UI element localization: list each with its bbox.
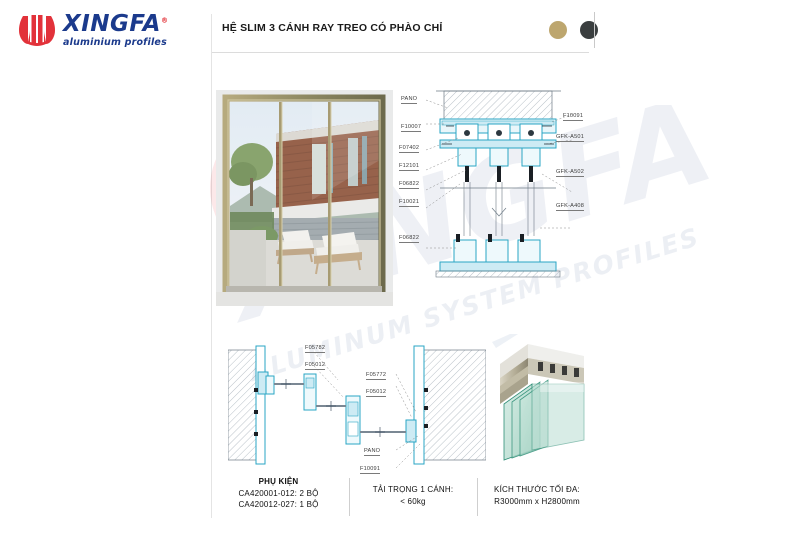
label-f06822-lower: F06822	[399, 235, 419, 243]
registered-mark-icon: ®	[161, 16, 169, 24]
caption-kich-thuoc: KÍCH THƯỚC TỐI ĐA: R3000mm x H2800mm	[473, 484, 601, 507]
brand-logo: XINGFA® aluminium profiles	[18, 13, 168, 48]
page-header: XINGFA® aluminium profiles HỆ SLIM 3 CÁN…	[0, 0, 800, 58]
page-title: HỆ SLIM 3 CÁNH RAY TREO CÓ PHÀO CHỈ	[222, 22, 443, 34]
label-f10007: F10007	[401, 124, 421, 132]
brand-tagline: aluminium profiles	[63, 38, 168, 48]
spec-caption-row: PHỤ KIỆN CA420001-012: 2 BỘ CA420012-027…	[211, 476, 594, 518]
label-f12101: F12101	[399, 163, 419, 171]
catalog-page: XINGFA® aluminium profiles HỆ SLIM 3 CÁN…	[0, 0, 800, 533]
label-f10021: F10021	[399, 199, 419, 207]
section-detail-drawing-bottom	[228, 332, 486, 480]
caption-tai-trong-title: TẢI TRỌNG 1 CÁNH:	[351, 484, 475, 496]
header-vertical-divider	[594, 12, 595, 48]
label-gfk-a502: GFK-A502	[556, 169, 584, 177]
label-f06822: F06822	[399, 181, 419, 189]
label-gfk-a408: GFK-A408	[556, 203, 584, 211]
label-gfk-a501: GFK-A501	[556, 134, 584, 142]
caption-tai-trong: TẢI TRỌNG 1 CÁNH: < 60kg	[351, 484, 475, 507]
caption-tai-trong-line1: < 60kg	[351, 496, 475, 508]
label-pano-top: PANO	[401, 96, 417, 104]
caption-phu-kien-title: PHỤ KIỆN	[211, 476, 346, 488]
caption-divider-1	[349, 478, 350, 516]
label-f10091-bottom: F10091	[360, 466, 380, 474]
product-photo	[216, 90, 393, 306]
xingfa-logo-icon	[18, 13, 56, 47]
label-f05782: F05782	[305, 345, 325, 353]
caption-phu-kien-line1: CA420001-012: 2 BỘ	[211, 488, 346, 500]
color-swatch-group	[549, 21, 598, 39]
caption-kich-thuoc-title: KÍCH THƯỚC TỐI ĐA:	[473, 484, 601, 496]
label-f10091-top: F10091	[563, 113, 583, 121]
header-horizontal-divider	[211, 52, 589, 53]
product-3d-render	[492, 334, 594, 462]
label-f05772: F05772	[366, 372, 386, 380]
swatch-champagne-gold[interactable]	[549, 21, 567, 39]
content-left-rail	[211, 14, 212, 518]
caption-phu-kien: PHỤ KIỆN CA420001-012: 2 BỘ CA420012-027…	[211, 476, 346, 511]
brand-name: XINGFA	[63, 11, 161, 37]
label-f07402: F07402	[399, 145, 419, 153]
caption-phu-kien-line2: CA420012-027: 1 BỘ	[211, 499, 346, 511]
caption-kich-thuoc-line1: R3000mm x H2800mm	[473, 496, 601, 508]
swatch-charcoal-grey[interactable]	[580, 21, 598, 39]
label-f05012-right: F05012	[366, 389, 386, 397]
label-pano-bottom: PANO	[364, 448, 380, 456]
label-f05012: F05012	[305, 362, 325, 370]
